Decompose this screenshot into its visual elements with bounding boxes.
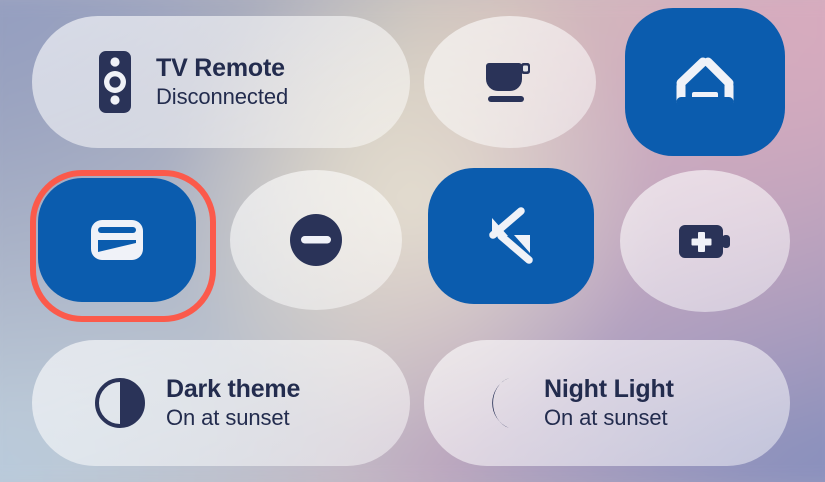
tile-coffee[interactable] (424, 16, 596, 148)
minus-circle-icon (287, 211, 345, 269)
tile-title: Dark theme (166, 376, 300, 403)
rotate-icon (480, 205, 542, 267)
tile-home[interactable] (625, 8, 785, 156)
tile-night-light-texts: Night Light On at sunset (544, 376, 674, 430)
tile-title: Night Light (544, 376, 674, 403)
tile-title: TV Remote (156, 55, 288, 82)
home-icon (674, 53, 736, 111)
tile-subtitle: Disconnected (156, 85, 288, 109)
tile-dark-theme-texts: Dark theme On at sunset (166, 376, 300, 430)
battery-plus-icon (676, 217, 734, 265)
contrast-circle-icon (94, 377, 146, 429)
quick-settings-panel: TV Remote Disconnected (0, 0, 825, 482)
moon-icon (476, 376, 524, 430)
tile-wallet[interactable] (38, 178, 196, 302)
tile-dark-theme[interactable]: Dark theme On at sunset (32, 340, 410, 466)
tile-auto-rotate[interactable] (428, 168, 594, 304)
tile-tv-remote-texts: TV Remote Disconnected (156, 55, 288, 109)
tile-night-light[interactable]: Night Light On at sunset (424, 340, 790, 466)
tile-battery-saver[interactable] (620, 170, 790, 312)
coffee-cup-icon (481, 56, 539, 108)
tile-subtitle: On at sunset (166, 406, 300, 430)
tile-tv-remote[interactable]: TV Remote Disconnected (32, 16, 410, 148)
tile-subtitle: On at sunset (544, 406, 674, 430)
tv-remote-icon (94, 50, 136, 114)
tile-do-not-disturb[interactable] (230, 170, 402, 310)
wallet-icon (88, 214, 146, 266)
